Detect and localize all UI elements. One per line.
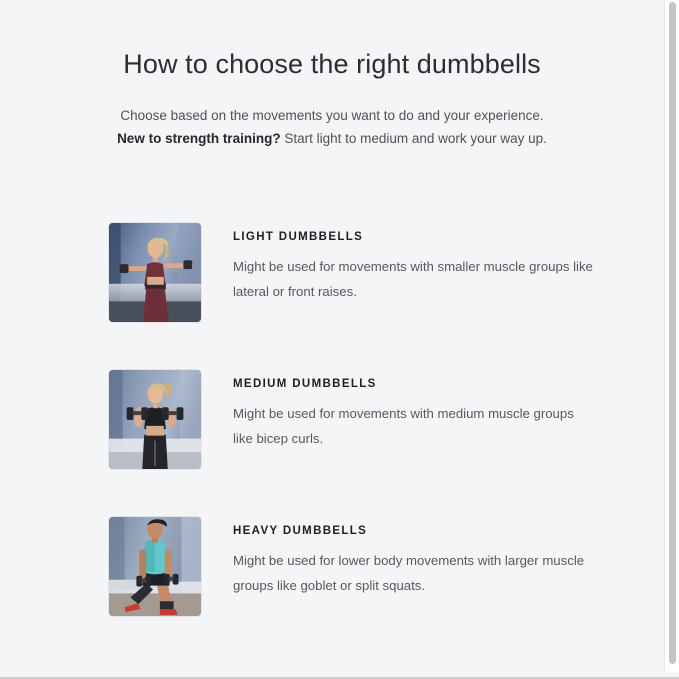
scrollbar-track[interactable] bbox=[664, 0, 679, 672]
tier-thumbnail-heavy bbox=[108, 516, 202, 617]
intro-bold-question: New to strength training? bbox=[117, 131, 281, 146]
tier-description: Might be used for movements with medium … bbox=[233, 401, 593, 451]
tier-thumbnail-light bbox=[108, 222, 202, 323]
content-column: How to choose the right dumbbells Choose… bbox=[0, 0, 664, 672]
page-title: How to choose the right dumbbells bbox=[0, 46, 664, 82]
scrollbar-thumb[interactable] bbox=[669, 2, 676, 664]
intro-paragraph: Choose based on the movements you want t… bbox=[0, 104, 664, 150]
tier-text-heavy: HEAVY DUMBBELLS Might be used for lower … bbox=[233, 516, 593, 598]
tier-heading: MEDIUM DUMBBELLS bbox=[233, 376, 593, 392]
list-item: LIGHT DUMBBELLS Might be used for moveme… bbox=[0, 222, 664, 369]
tier-description: Might be used for lower body movements w… bbox=[233, 548, 593, 598]
page-root: How to choose the right dumbbells Choose… bbox=[0, 0, 679, 679]
intro-line-2-rest: Start light to medium and work your way … bbox=[281, 131, 547, 146]
tier-text-light: LIGHT DUMBBELLS Might be used for moveme… bbox=[233, 222, 593, 304]
woman-bicep-curl-icon bbox=[109, 370, 201, 469]
list-item: HEAVY DUMBBELLS Might be used for lower … bbox=[0, 516, 664, 663]
tier-text-medium: MEDIUM DUMBBELLS Might be used for movem… bbox=[233, 369, 593, 451]
intro-line-1: Choose based on the movements you want t… bbox=[0, 104, 664, 127]
woman-lateral-raise-icon bbox=[109, 223, 201, 322]
intro-line-2: New to strength training? Start light to… bbox=[0, 127, 664, 150]
list-item: MEDIUM DUMBBELLS Might be used for movem… bbox=[0, 369, 664, 516]
dumbbell-tier-list: LIGHT DUMBBELLS Might be used for moveme… bbox=[0, 222, 664, 663]
tier-thumbnail-medium bbox=[108, 369, 202, 470]
tier-heading: LIGHT DUMBBELLS bbox=[233, 229, 593, 245]
man-split-squat-icon bbox=[109, 517, 201, 616]
tier-description: Might be used for movements with smaller… bbox=[233, 254, 593, 304]
tier-heading: HEAVY DUMBBELLS bbox=[233, 523, 593, 539]
